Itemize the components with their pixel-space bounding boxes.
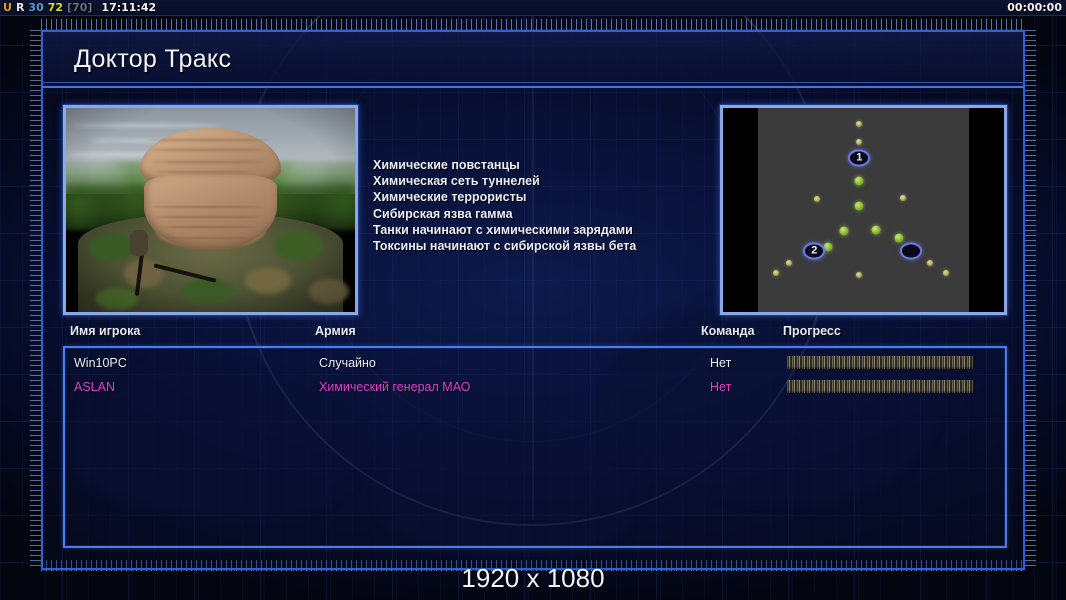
stat-value-2: 72: [48, 1, 63, 14]
ability-line: Химические повстанцы: [373, 157, 683, 173]
ruler-top: [41, 19, 1025, 30]
progress-bar: [787, 380, 973, 393]
column-header-army: Армия: [315, 324, 356, 338]
player-army[interactable]: Случайно: [319, 356, 376, 370]
page-title: Доктор Тракс: [74, 45, 231, 74]
player-name: ASLAN: [74, 380, 115, 394]
column-header-progress: Прогресс: [783, 324, 841, 338]
player-progress: [787, 356, 973, 369]
map-resource-dot: [872, 226, 881, 235]
player-team[interactable]: Нет: [710, 356, 731, 370]
ruler-left: [30, 30, 41, 570]
stat-prefix-r: R: [16, 1, 24, 14]
player-name: Win10PC: [74, 356, 127, 370]
stat-prefix-u: U: [3, 1, 12, 14]
player-table-header: Имя игрока Армия Команда Прогресс: [63, 324, 1007, 344]
map-resource-dot: [856, 139, 862, 145]
map-start-position-marker[interactable]: 1: [848, 149, 870, 166]
column-header-team: Команда: [701, 324, 755, 338]
map-start-position-marker[interactable]: [900, 242, 922, 259]
portrait-vignette: [66, 108, 355, 312]
ability-line: Танки начинают с химическими зарядами: [373, 222, 683, 238]
game-lobby-screen: UR 30 72[70] 17:11:42 00:00:00 Доктор Тр…: [0, 0, 1066, 600]
map-resource-dot: [856, 272, 862, 278]
player-team[interactable]: Нет: [710, 380, 731, 394]
map-resource-dot: [927, 260, 933, 266]
map-resource-dot: [839, 227, 848, 236]
map-resource-dot: [856, 121, 862, 127]
status-bar-stats: UR 30 72[70] 17:11:42: [0, 1, 156, 14]
general-portrait: [63, 105, 358, 315]
player-row[interactable]: Win10PCСлучайноНет: [65, 351, 1005, 375]
ruler-right: [1025, 30, 1036, 570]
map-start-position-marker[interactable]: 2: [803, 242, 825, 259]
system-clock: 17:11:42: [101, 1, 156, 14]
map-resource-dot: [773, 270, 779, 276]
status-bar: UR 30 72[70] 17:11:42 00:00:00: [0, 0, 1066, 16]
title-bar: Доктор Тракс: [41, 30, 1025, 88]
map-resource-dot: [855, 177, 864, 186]
general-ability-list: Химические повстанцы Химическая сеть тун…: [373, 157, 683, 254]
progress-bar: [787, 356, 973, 369]
main-frame: Доктор Тракс: [41, 30, 1025, 570]
ability-line: Токсины начинают с сибирской язвы бета: [373, 238, 683, 254]
stat-value-1: 30: [28, 1, 43, 14]
map-resource-dot: [786, 260, 792, 266]
player-row[interactable]: ASLANХимический генерал МАОНет: [65, 375, 1005, 399]
map-resource-dot: [943, 270, 949, 276]
player-army[interactable]: Химический генерал МАО: [319, 380, 470, 394]
map-markers-layer: 12: [723, 108, 1004, 312]
map-resource-dot: [900, 195, 906, 201]
title-bar-underline: [43, 82, 1023, 83]
ability-line: Химические террористы: [373, 189, 683, 205]
match-timer: 00:00:00: [1007, 1, 1066, 14]
top-row: Химические повстанцы Химическая сеть тун…: [63, 105, 1007, 315]
portrait-artwork: [66, 108, 355, 312]
ability-line: Сибирская язва гамма: [373, 206, 683, 222]
map-preview[interactable]: 12: [720, 105, 1007, 315]
ability-line: Химическая сеть туннелей: [373, 173, 683, 189]
map-resource-dot: [855, 201, 864, 210]
map-resource-dot: [894, 233, 903, 242]
map-resource-dot: [814, 196, 820, 202]
player-rows-container: Win10PCСлучайноНетASLANХимический генера…: [65, 348, 1005, 399]
player-list-panel: Win10PCСлучайноНетASLANХимический генера…: [63, 346, 1007, 548]
resolution-label: 1920 x 1080: [0, 563, 1066, 594]
stat-value-3: [70]: [67, 1, 92, 14]
column-header-player-name: Имя игрока: [70, 324, 140, 338]
body-panel: Химические повстанцы Химическая сеть тун…: [41, 88, 1025, 570]
player-progress: [787, 380, 973, 393]
